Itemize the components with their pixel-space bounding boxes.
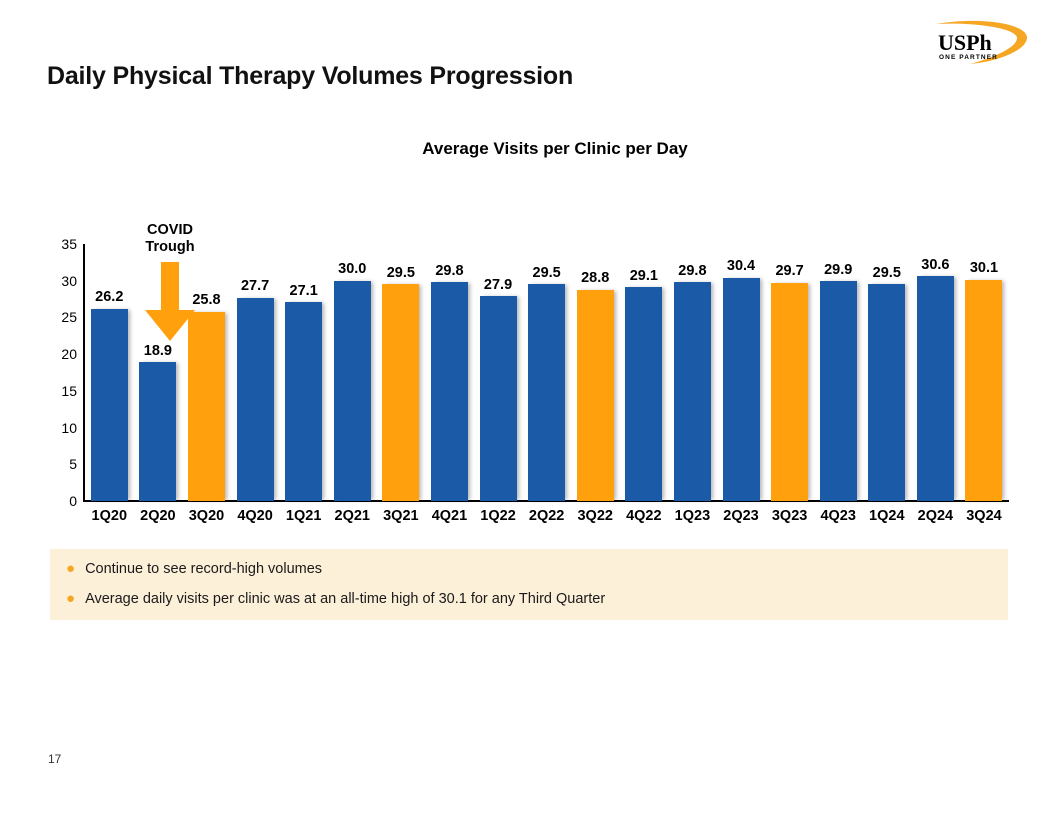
page-title: Daily Physical Therapy Volumes Progressi… [47, 62, 573, 91]
bar-slot-2Q20: 18.9 [134, 244, 183, 501]
bar-value-label-1Q23: 29.8 [678, 264, 706, 279]
bar-value-label-1Q24: 29.5 [873, 266, 901, 281]
x-tick-3Q22: 3Q22 [571, 508, 620, 524]
logo-wordmark: USPh [938, 30, 992, 55]
x-tick-2Q20: 2Q20 [134, 508, 183, 524]
x-tick-1Q24: 1Q24 [863, 508, 912, 524]
y-tick-15: 15 [47, 384, 77, 398]
bar-3Q22[interactable]: 28.8 [577, 290, 614, 501]
chart-title: Average Visits per Clinic per Day [0, 139, 1056, 159]
bar-slot-2Q22: 29.5 [522, 244, 571, 501]
bar-value-label-4Q23: 29.9 [824, 263, 852, 278]
y-tick-30: 30 [47, 274, 77, 288]
x-tick-2Q22: 2Q22 [522, 508, 571, 524]
callout-box: ● Continue to see record-high volumes ● … [50, 549, 1008, 620]
x-tick-1Q23: 1Q23 [668, 508, 717, 524]
bar-slot-3Q21: 29.5 [377, 244, 426, 501]
bar-slot-2Q23: 30.4 [717, 244, 766, 501]
x-tick-3Q23: 3Q23 [765, 508, 814, 524]
callout-bullet-2: ● Average daily visits per clinic was at… [66, 591, 605, 608]
bar-slot-4Q21: 29.8 [425, 244, 474, 501]
x-tick-2Q21: 2Q21 [328, 508, 377, 524]
x-tick-3Q20: 3Q20 [182, 508, 231, 524]
bar-value-label-3Q21: 29.5 [387, 266, 415, 281]
usph-logo: USPh ONE PARTNER [924, 18, 1034, 66]
callout-bullet-2-text: Average daily visits per clinic was at a… [85, 592, 605, 608]
bar-slot-2Q21: 30.0 [328, 244, 377, 501]
y-tick-25: 25 [47, 310, 77, 324]
bullet-dot-icon: ● [66, 561, 75, 576]
bar-2Q23[interactable]: 30.4 [723, 278, 760, 501]
bar-value-label-1Q21: 27.1 [290, 284, 318, 299]
x-tick-4Q22: 4Q22 [620, 508, 669, 524]
logo-tagline: ONE PARTNER [939, 54, 998, 61]
bar-slot-4Q20: 27.7 [231, 244, 280, 501]
bar-slot-1Q20: 26.2 [85, 244, 134, 501]
callout-bullet-1-text: Continue to see record-high volumes [85, 562, 322, 578]
bar-chart: 35302520151050 26.218.925.827.727.130.02… [47, 238, 1012, 533]
y-tick-35: 35 [47, 237, 77, 251]
bar-value-label-2Q22: 29.5 [533, 266, 561, 281]
bar-1Q22[interactable]: 27.9 [480, 296, 517, 501]
bar-value-label-3Q23: 29.7 [775, 264, 803, 279]
x-tick-1Q22: 1Q22 [474, 508, 523, 524]
bar-2Q20[interactable]: 18.9 [139, 362, 176, 501]
x-tick-4Q23: 4Q23 [814, 508, 863, 524]
bar-4Q20[interactable]: 27.7 [237, 298, 274, 501]
bar-3Q20[interactable]: 25.8 [188, 312, 225, 501]
bullet-dot-icon: ● [66, 591, 75, 606]
bar-value-label-3Q20: 25.8 [192, 293, 220, 308]
x-tick-3Q21: 3Q21 [377, 508, 426, 524]
bar-value-label-3Q22: 28.8 [581, 271, 609, 286]
x-tick-1Q20: 1Q20 [85, 508, 134, 524]
bar-1Q23[interactable]: 29.8 [674, 282, 711, 501]
bar-value-label-4Q20: 27.7 [241, 279, 269, 294]
bar-1Q24[interactable]: 29.5 [868, 284, 905, 501]
x-tick-2Q24: 2Q24 [911, 508, 960, 524]
bar-value-label-4Q22: 29.1 [630, 269, 658, 284]
callout-bullet-1: ● Continue to see record-high volumes [66, 561, 322, 578]
x-tick-4Q20: 4Q20 [231, 508, 280, 524]
y-tick-5: 5 [47, 457, 77, 471]
bar-value-label-2Q24: 30.6 [921, 258, 949, 273]
page-number: 17 [48, 752, 61, 766]
logo-graphic: USPh ONE PARTNER [924, 18, 1034, 66]
bar-slot-1Q23: 29.8 [668, 244, 717, 501]
bar-slot-4Q23: 29.9 [814, 244, 863, 501]
bar-slot-1Q22: 27.9 [474, 244, 523, 501]
bar-slot-3Q22: 28.8 [571, 244, 620, 501]
bar-4Q23[interactable]: 29.9 [820, 281, 857, 501]
bar-series: 26.218.925.827.727.130.029.529.827.929.5… [85, 244, 1009, 501]
bar-1Q20[interactable]: 26.2 [91, 309, 128, 501]
bar-value-label-2Q21: 30.0 [338, 262, 366, 277]
bar-slot-3Q20: 25.8 [182, 244, 231, 501]
bar-3Q21[interactable]: 29.5 [382, 284, 419, 501]
bar-slot-2Q24: 30.6 [911, 244, 960, 501]
x-tick-2Q23: 2Q23 [717, 508, 766, 524]
y-tick-10: 10 [47, 421, 77, 435]
bar-2Q21[interactable]: 30.0 [334, 281, 371, 501]
y-tick-0: 0 [47, 494, 77, 508]
bar-2Q22[interactable]: 29.5 [528, 284, 565, 501]
bar-value-label-3Q24: 30.1 [970, 261, 998, 276]
bar-value-label-2Q20: 18.9 [144, 344, 172, 359]
bar-value-label-4Q21: 29.8 [435, 264, 463, 279]
bar-4Q22[interactable]: 29.1 [625, 287, 662, 501]
x-tick-4Q21: 4Q21 [425, 508, 474, 524]
bar-3Q24[interactable]: 30.1 [965, 280, 1002, 501]
bar-value-label-1Q22: 27.9 [484, 278, 512, 293]
bar-slot-4Q22: 29.1 [620, 244, 669, 501]
bar-1Q21[interactable]: 27.1 [285, 302, 322, 501]
x-tick-3Q24: 3Q24 [960, 508, 1009, 524]
bar-slot-1Q24: 29.5 [863, 244, 912, 501]
bar-slot-3Q24: 30.1 [960, 244, 1009, 501]
y-tick-20: 20 [47, 347, 77, 361]
x-tick-1Q21: 1Q21 [279, 508, 328, 524]
bar-4Q21[interactable]: 29.8 [431, 282, 468, 501]
bar-2Q24[interactable]: 30.6 [917, 276, 954, 501]
chart-title-text: Average Visits per Clinic per Day [422, 139, 688, 159]
x-axis-tick-labels: 1Q202Q203Q204Q201Q212Q213Q214Q211Q222Q22… [85, 508, 1009, 524]
covid-trough-label-line1: COVID [147, 222, 193, 238]
bar-slot-1Q21: 27.1 [279, 244, 328, 501]
bar-slot-3Q23: 29.7 [765, 244, 814, 501]
bar-value-label-2Q23: 30.4 [727, 259, 755, 274]
bar-value-label-1Q20: 26.2 [95, 290, 123, 305]
bar-3Q23[interactable]: 29.7 [771, 283, 808, 501]
